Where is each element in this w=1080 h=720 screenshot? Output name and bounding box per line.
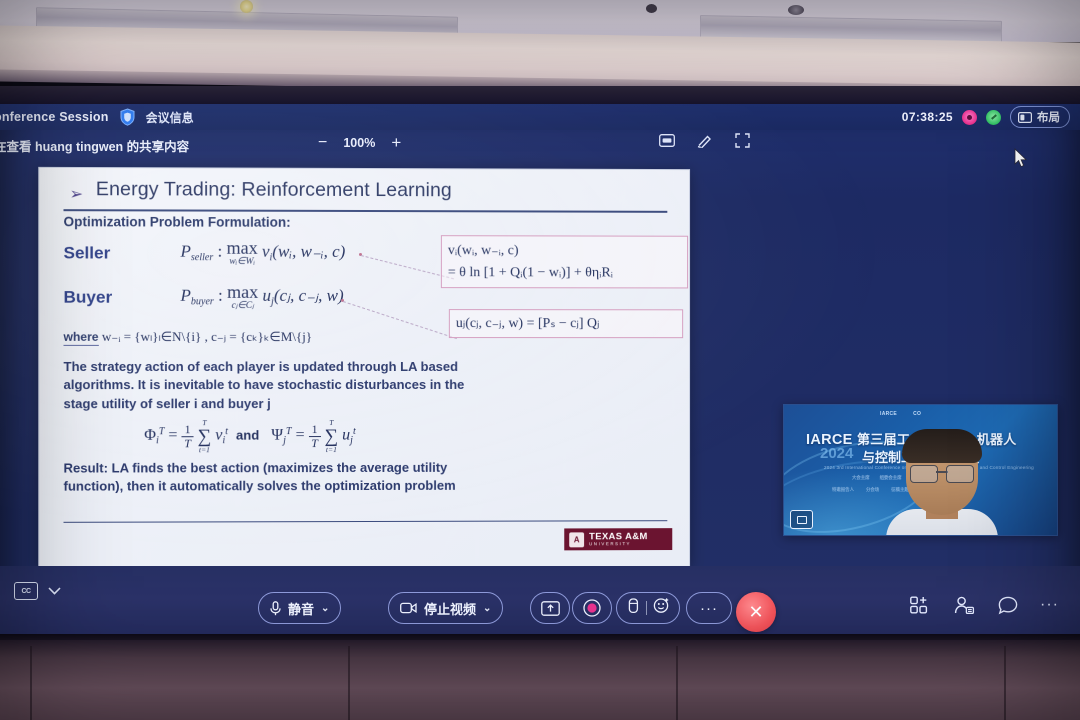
- slide-title: Energy Trading: Reinforcement Learning: [96, 178, 452, 202]
- phi-and: and: [236, 428, 259, 443]
- tamu-seal-icon: A: [569, 532, 584, 547]
- psi-frac-den: T: [309, 437, 321, 450]
- layout-label: 布局: [1037, 109, 1060, 125]
- phi-sum-lower: t=1: [198, 446, 212, 454]
- seller-label: Seller: [64, 243, 111, 263]
- seller-p: P: [180, 242, 190, 261]
- seller-max: max wᵢ∈Wᵢ: [227, 239, 258, 268]
- zoom-out-button[interactable]: −: [318, 135, 327, 151]
- where-label: where: [64, 330, 99, 346]
- arrow-bullet-icon: ➢: [70, 184, 84, 204]
- seller-p-sub: seller: [191, 252, 213, 263]
- buyer-utility-box: uⱼ(cⱼ, c₋ⱼ, w) = [Pₛ − cⱼ] Qⱼ: [449, 309, 683, 338]
- whiteboard-reactions-group[interactable]: [616, 592, 680, 624]
- texas-am-logo: A TEXAS A&M U N I V E R S I T Y: [564, 528, 672, 550]
- more-options-button[interactable]: ···: [686, 592, 732, 624]
- backdrop-logo-left: IARCE: [880, 411, 897, 417]
- phi-term-sup: t: [225, 426, 228, 437]
- zoom-in-button[interactable]: +: [391, 134, 401, 151]
- buyer-max: max cⱼ∈Cⱼ: [227, 283, 258, 312]
- share-screen-button[interactable]: [530, 592, 570, 624]
- seller-max-cond: wᵢ∈Wᵢ: [227, 258, 258, 268]
- video-camera-icon: [400, 602, 417, 614]
- psi-symbol: Ψ: [271, 427, 283, 444]
- buyer-args: (cⱼ, c₋ⱼ, w): [274, 286, 344, 305]
- avatar-hair: [902, 429, 982, 463]
- ceiling-fixture: [646, 4, 657, 13]
- tamu-tagline: U N I V E R S I T Y: [589, 542, 648, 547]
- presenter-name: huang tingwen: [35, 140, 123, 154]
- where-line: where w₋ᵢ = {wₗ}ₗ∈N\{i} , c₋ⱼ = {cₖ}ₖ∈M\…: [64, 329, 313, 345]
- strategy-paragraph: The strategy action of each player is up…: [64, 358, 495, 414]
- mute-button[interactable]: 静音 ⌄: [258, 592, 341, 624]
- annotate-icon[interactable]: [697, 134, 713, 153]
- buyer-p: P: [180, 286, 190, 305]
- record-button[interactable]: [572, 592, 612, 624]
- whiteboard-icon[interactable]: [627, 598, 640, 619]
- fullscreen-icon[interactable]: [735, 133, 750, 153]
- result-paragraph: Result: LA finds the best action (maximi…: [64, 459, 495, 497]
- closed-captions-icon[interactable]: CC: [14, 582, 38, 600]
- buyer-colon: :: [218, 286, 223, 305]
- stop-video-label: 停止视频: [424, 599, 476, 618]
- phi-frac-num: 1: [182, 423, 194, 437]
- lower-wall: [0, 640, 1080, 720]
- wall-panel-edge: [676, 646, 678, 720]
- leader-line: [343, 301, 457, 339]
- backdrop-logos: IARCE CO: [880, 411, 921, 417]
- phi-frac-den: T: [182, 437, 194, 450]
- view-options-icon[interactable]: [659, 134, 675, 152]
- mouse-cursor: [1014, 148, 1028, 173]
- shared-slide[interactable]: ➢ Energy Trading: Reinforcement Learning…: [38, 167, 690, 569]
- average-utility-formula: ΦiT = 1 T T ∑ t=1 vit and ΨjT =: [144, 419, 356, 453]
- seller-utility-rhs: = θ ln [1 + Qᵢ(1 − wᵢ)] + θηᵢRᵢ: [448, 262, 681, 284]
- ceiling-fixture: [788, 5, 804, 15]
- buyer-formula: Pbuyer : max cⱼ∈Cⱼ uj(cⱼ, c₋ⱼ, w): [180, 283, 343, 312]
- participant-avatar: [890, 431, 994, 535]
- captions-control[interactable]: CC: [14, 582, 61, 600]
- share-screen-icon: [541, 601, 560, 616]
- participant-video-tile[interactable]: IARCE CO 2024 IARCE 第三届工业自动化、机器人 与控制工程国际…: [783, 404, 1058, 536]
- chevron-down-icon[interactable]: [48, 582, 61, 600]
- backdrop-logo-right: CO: [913, 411, 921, 417]
- phi-symbol: Φ: [144, 427, 156, 444]
- chat-button[interactable]: [998, 596, 1018, 615]
- screenshot-root: onference Session 会议信息 07:38:25 布局 在查看: [0, 0, 1080, 720]
- meeting-top-bar: onference Session 会议信息 07:38:25 布局: [0, 104, 1080, 130]
- seller-max-op: max: [227, 238, 258, 258]
- participants-button[interactable]: [954, 596, 976, 615]
- seller-colon: :: [218, 242, 223, 261]
- microphone-icon: [270, 601, 281, 616]
- session-title: onference Session: [0, 110, 109, 124]
- title-divider: [64, 209, 668, 212]
- phi-equals: =: [168, 427, 177, 444]
- zoom-level-controls: − 100% +: [318, 134, 401, 151]
- seller-utility-lhs: vᵢ(wᵢ, w₋ᵢ, c): [448, 240, 681, 262]
- participants-icon: [954, 596, 976, 615]
- wall-panel-edge: [348, 646, 350, 720]
- phi-sum: T ∑ t=1: [198, 419, 212, 453]
- ceiling-light: [240, 0, 253, 13]
- buyer-label: Buyer: [64, 288, 113, 308]
- screen-share-bar: 在查看 huang tingwen 的共享内容 − 100% +: [0, 130, 1080, 160]
- buyer-max-op: max: [227, 282, 258, 302]
- backdrop-chip: 分会场: [866, 487, 879, 493]
- record-active-icon[interactable]: [962, 110, 977, 125]
- meeting-info-label[interactable]: 会议信息: [146, 109, 194, 126]
- layout-icon: [1018, 112, 1032, 123]
- chat-icon: [998, 596, 1018, 615]
- sharing-status: 在查看 huang tingwen 的共享内容: [0, 136, 189, 155]
- backdrop-chip: 大会主席: [852, 475, 870, 481]
- record-icon: [583, 599, 601, 617]
- psi-frac-num: 1: [309, 423, 321, 437]
- top-bar-right: 07:38:25 布局: [902, 106, 1080, 128]
- viewing-suffix: 的共享内容: [127, 140, 190, 154]
- psi-sum-lower: t=1: [325, 446, 339, 454]
- seller-args: (wᵢ, w₋ᵢ, c): [272, 242, 345, 261]
- slide-subtitle: Optimization Problem Formulation:: [64, 214, 291, 230]
- layout-button[interactable]: 布局: [1010, 106, 1070, 128]
- mute-label: 静音: [288, 599, 314, 618]
- psi-fraction: 1 T: [309, 423, 321, 449]
- buyer-fn: u: [263, 286, 272, 305]
- buyer-p-sub: buyer: [191, 296, 214, 307]
- end-meeting-button[interactable]: ✕: [736, 592, 776, 632]
- where-expression: w₋ᵢ = {wₗ}ₗ∈N\{i} , c₋ⱼ = {cₖ}ₖ∈M\{j}: [102, 329, 312, 344]
- psi-sum-symbol: ∑: [325, 426, 339, 447]
- share-view-icons: [659, 133, 750, 153]
- shield-icon[interactable]: [119, 108, 136, 126]
- button-separator: [646, 601, 647, 615]
- backdrop-chip: 特邀报告人: [832, 487, 854, 493]
- apps-icon: [910, 596, 932, 615]
- viewing-prefix: 在查看: [0, 140, 32, 154]
- buyer-utility-eq: uⱼ(cⱼ, c₋ⱼ, w) = [Pₛ − cⱼ] Qⱼ: [456, 315, 676, 332]
- more-right-button[interactable]: ···: [1040, 596, 1059, 614]
- zoom-level-value: 100%: [343, 136, 375, 150]
- stop-video-button[interactable]: 停止视频 ⌄: [388, 592, 503, 624]
- zoom-meeting-window: onference Session 会议信息 07:38:25 布局 在查看: [0, 104, 1080, 638]
- wall-panel-edge: [30, 646, 32, 720]
- wall-gap: [0, 86, 1080, 106]
- chevron-down-icon[interactable]: ⌄: [321, 603, 329, 614]
- reactions-icon[interactable]: [653, 597, 670, 619]
- psi-equals: =: [296, 427, 305, 444]
- meeting-clock: 07:38:25: [902, 110, 953, 124]
- psi-term: u: [342, 427, 350, 444]
- footer-divider: [64, 520, 668, 523]
- psi-sum: T ∑ t=1: [325, 419, 339, 453]
- audio-active-icon[interactable]: [986, 110, 1001, 125]
- psi-sup: T: [286, 426, 292, 437]
- buyer-max-cond: cⱼ∈Cⱼ: [227, 302, 258, 312]
- tamu-name: TEXAS A&M U N I V E R S I T Y: [589, 532, 648, 546]
- seller-formula: Pseller : max wᵢ∈Wᵢ vi(wᵢ, w₋ᵢ, c): [180, 239, 345, 268]
- psi-term-sup: t: [353, 426, 356, 437]
- video-icon: [790, 510, 813, 529]
- backdrop-acronym: IARCE: [806, 432, 853, 448]
- wall-panel-edge: [1004, 646, 1006, 720]
- phi-sum-symbol: ∑: [198, 426, 212, 447]
- phi-sup: T: [159, 426, 165, 437]
- top-bar-left: onference Session 会议信息: [0, 108, 194, 126]
- seller-utility-box: vᵢ(wᵢ, w₋ᵢ, c) = θ ln [1 + Qᵢ(1 − wᵢ)] +…: [441, 235, 688, 289]
- phi-term: v: [215, 427, 222, 444]
- phi-fraction: 1 T: [182, 423, 194, 449]
- seller-fn: v: [262, 242, 270, 261]
- chevron-down-icon[interactable]: ⌄: [483, 603, 491, 614]
- glasses-icon: [910, 465, 974, 481]
- apps-button[interactable]: [910, 596, 932, 615]
